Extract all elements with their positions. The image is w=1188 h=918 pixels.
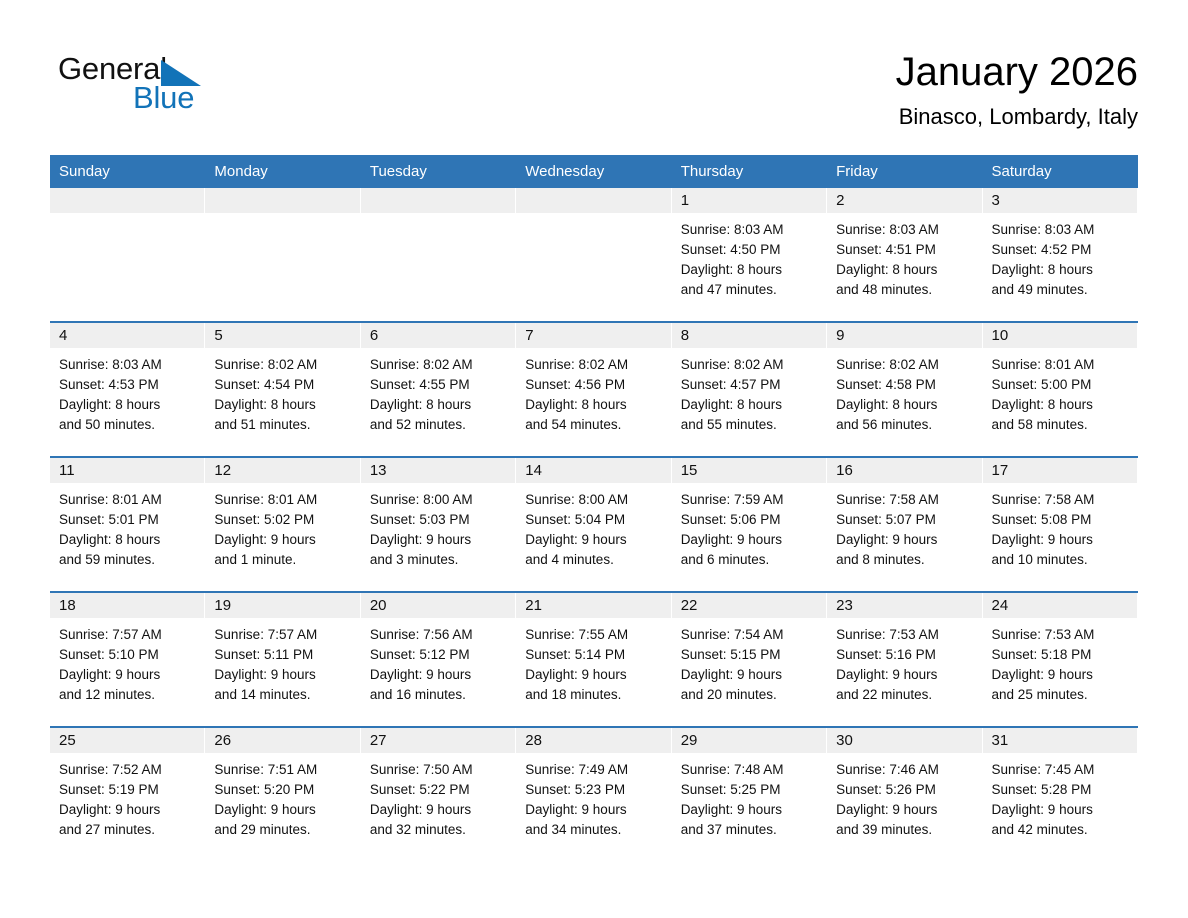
daylight-text-line2: and 10 minutes. (992, 550, 1130, 570)
day-number: 3 (983, 192, 1000, 209)
day-cell[interactable]: 11Sunrise: 8:01 AMSunset: 5:01 PMDayligh… (50, 458, 205, 591)
day-cell[interactable]: 7Sunrise: 8:02 AMSunset: 4:56 PMDaylight… (516, 323, 671, 456)
daylight-text-line2: and 4 minutes. (525, 550, 663, 570)
day-cell[interactable]: 22Sunrise: 7:54 AMSunset: 5:15 PMDayligh… (672, 593, 827, 726)
calendar-week-row: 1Sunrise: 8:03 AMSunset: 4:50 PMDaylight… (50, 188, 1138, 322)
day-cell[interactable]: 20Sunrise: 7:56 AMSunset: 5:12 PMDayligh… (361, 593, 516, 726)
calendar-cell[interactable]: 12Sunrise: 8:01 AMSunset: 5:02 PMDayligh… (205, 457, 360, 592)
day-number-band (361, 188, 516, 213)
calendar-cell[interactable]: 23Sunrise: 7:53 AMSunset: 5:16 PMDayligh… (827, 592, 982, 727)
day-number (205, 192, 214, 209)
calendar-cell[interactable]: 9Sunrise: 8:02 AMSunset: 4:58 PMDaylight… (827, 322, 982, 457)
daylight-text-line2: and 1 minute. (214, 550, 352, 570)
day-number-band: 25 (50, 728, 205, 753)
calendar-cell[interactable]: 31Sunrise: 7:45 AMSunset: 5:28 PMDayligh… (983, 727, 1138, 861)
sunset-text: Sunset: 5:18 PM (992, 645, 1130, 665)
day-cell[interactable]: 17Sunrise: 7:58 AMSunset: 5:08 PMDayligh… (983, 458, 1138, 591)
daylight-text-line2: and 34 minutes. (525, 820, 663, 840)
calendar-cell[interactable]: 8Sunrise: 8:02 AMSunset: 4:57 PMDaylight… (672, 322, 827, 457)
day-number-band (516, 188, 671, 213)
sunset-text: Sunset: 4:52 PM (992, 240, 1130, 260)
calendar-cell[interactable]: 13Sunrise: 8:00 AMSunset: 5:03 PMDayligh… (361, 457, 516, 592)
sunset-text: Sunset: 5:10 PM (59, 645, 197, 665)
day-cell[interactable] (361, 188, 516, 321)
day-number-band (50, 188, 205, 213)
day-number-band: 24 (983, 593, 1138, 618)
daylight-text-line1: Daylight: 8 hours (370, 395, 508, 415)
daylight-text-line1: Daylight: 9 hours (370, 800, 508, 820)
daylight-text-line2: and 18 minutes. (525, 685, 663, 705)
day-cell[interactable]: 29Sunrise: 7:48 AMSunset: 5:25 PMDayligh… (672, 728, 827, 861)
weekday-header-thursday: Thursday (672, 155, 827, 188)
sunrise-text: Sunrise: 8:03 AM (59, 355, 197, 375)
sunrise-text: Sunrise: 7:49 AM (525, 760, 663, 780)
day-cell[interactable]: 26Sunrise: 7:51 AMSunset: 5:20 PMDayligh… (205, 728, 360, 861)
day-number-band: 6 (361, 323, 516, 348)
day-number: 5 (205, 327, 222, 344)
daylight-text-line1: Daylight: 9 hours (525, 800, 663, 820)
sunrise-text: Sunrise: 7:53 AM (836, 625, 974, 645)
day-number: 22 (672, 597, 698, 614)
daylight-text-line1: Daylight: 9 hours (681, 665, 819, 685)
day-number: 30 (827, 732, 853, 749)
day-cell[interactable]: 8Sunrise: 8:02 AMSunset: 4:57 PMDaylight… (672, 323, 827, 456)
day-number: 15 (672, 462, 698, 479)
day-cell[interactable]: 24Sunrise: 7:53 AMSunset: 5:18 PMDayligh… (983, 593, 1138, 726)
calendar-cell[interactable]: 28Sunrise: 7:49 AMSunset: 5:23 PMDayligh… (516, 727, 671, 861)
calendar-cell[interactable]: 17Sunrise: 7:58 AMSunset: 5:08 PMDayligh… (983, 457, 1138, 592)
daylight-text-line1: Daylight: 9 hours (681, 530, 819, 550)
day-number-band: 29 (672, 728, 827, 753)
sunset-text: Sunset: 5:16 PM (836, 645, 974, 665)
weekday-header-row: Sunday Monday Tuesday Wednesday Thursday… (50, 155, 1138, 188)
daylight-text-line1: Daylight: 9 hours (370, 665, 508, 685)
sunset-text: Sunset: 4:54 PM (214, 375, 352, 395)
sunset-text: Sunset: 5:26 PM (836, 780, 974, 800)
day-number-band: 18 (50, 593, 205, 618)
sunrise-text: Sunrise: 7:51 AM (214, 760, 352, 780)
calendar-cell[interactable]: 7Sunrise: 8:02 AMSunset: 4:56 PMDaylight… (516, 322, 671, 457)
day-number: 7 (516, 327, 533, 344)
daylight-text-line2: and 8 minutes. (836, 550, 974, 570)
sunset-text: Sunset: 5:07 PM (836, 510, 974, 530)
day-cell[interactable]: 18Sunrise: 7:57 AMSunset: 5:10 PMDayligh… (50, 593, 205, 726)
day-number: 25 (50, 732, 76, 749)
day-details: Sunrise: 7:56 AMSunset: 5:12 PMDaylight:… (361, 618, 516, 705)
calendar-page: General Blue January 2026 Binasco, Lomba… (50, 0, 1138, 918)
daylight-text-line1: Daylight: 8 hours (59, 395, 197, 415)
day-details: Sunrise: 8:01 AMSunset: 5:00 PMDaylight:… (983, 348, 1138, 435)
day-details: Sunrise: 7:48 AMSunset: 5:25 PMDaylight:… (672, 753, 827, 840)
sunset-text: Sunset: 5:02 PM (214, 510, 352, 530)
day-details: Sunrise: 8:01 AMSunset: 5:01 PMDaylight:… (50, 483, 205, 570)
sunrise-text: Sunrise: 8:03 AM (681, 220, 819, 240)
day-number: 31 (983, 732, 1009, 749)
day-number: 16 (827, 462, 853, 479)
day-number-band: 16 (827, 458, 982, 483)
daylight-text-line2: and 27 minutes. (59, 820, 197, 840)
day-cell[interactable]: 16Sunrise: 7:58 AMSunset: 5:07 PMDayligh… (827, 458, 982, 591)
day-number-band: 2 (827, 188, 982, 213)
sunrise-text: Sunrise: 7:54 AM (681, 625, 819, 645)
daylight-text-line2: and 42 minutes. (992, 820, 1130, 840)
day-number: 13 (361, 462, 387, 479)
day-details: Sunrise: 7:58 AMSunset: 5:07 PMDaylight:… (827, 483, 982, 570)
day-details: Sunrise: 7:57 AMSunset: 5:10 PMDaylight:… (50, 618, 205, 705)
daylight-text-line2: and 3 minutes. (370, 550, 508, 570)
daylight-text-line1: Daylight: 8 hours (992, 260, 1130, 280)
calendar-cell[interactable] (361, 188, 516, 322)
sunrise-text: Sunrise: 7:52 AM (59, 760, 197, 780)
day-details: Sunrise: 7:54 AMSunset: 5:15 PMDaylight:… (672, 618, 827, 705)
page-subtitle: Binasco, Lombardy, Italy (896, 102, 1138, 132)
daylight-text-line1: Daylight: 9 hours (836, 530, 974, 550)
sunrise-text: Sunrise: 8:00 AM (370, 490, 508, 510)
sunset-text: Sunset: 4:50 PM (681, 240, 819, 260)
daylight-text-line2: and 37 minutes. (681, 820, 819, 840)
daylight-text-line1: Daylight: 8 hours (59, 530, 197, 550)
calendar-cell[interactable]: 21Sunrise: 7:55 AMSunset: 5:14 PMDayligh… (516, 592, 671, 727)
calendar-cell[interactable]: 6Sunrise: 8:02 AMSunset: 4:55 PMDaylight… (361, 322, 516, 457)
day-number-band: 27 (361, 728, 516, 753)
day-number-band: 17 (983, 458, 1138, 483)
sunset-text: Sunset: 5:12 PM (370, 645, 508, 665)
sunrise-text: Sunrise: 7:57 AM (59, 625, 197, 645)
calendar-cell[interactable]: 20Sunrise: 7:56 AMSunset: 5:12 PMDayligh… (361, 592, 516, 727)
day-number (361, 192, 370, 209)
sunset-text: Sunset: 4:57 PM (681, 375, 819, 395)
day-number-band: 12 (205, 458, 360, 483)
day-number-band: 19 (205, 593, 360, 618)
day-number-band (205, 188, 360, 213)
daylight-text-line2: and 58 minutes. (992, 415, 1130, 435)
day-number: 14 (516, 462, 542, 479)
day-number-band: 5 (205, 323, 360, 348)
day-cell[interactable]: 9Sunrise: 8:02 AMSunset: 4:58 PMDaylight… (827, 323, 982, 456)
sunset-text: Sunset: 5:08 PM (992, 510, 1130, 530)
sunset-text: Sunset: 4:56 PM (525, 375, 663, 395)
day-number: 21 (516, 597, 542, 614)
sunrise-text: Sunrise: 8:03 AM (992, 220, 1130, 240)
day-details: Sunrise: 7:50 AMSunset: 5:22 PMDaylight:… (361, 753, 516, 840)
day-number: 1 (672, 192, 689, 209)
daylight-text-line2: and 50 minutes. (59, 415, 197, 435)
sunrise-text: Sunrise: 7:53 AM (992, 625, 1130, 645)
day-number-band: 30 (827, 728, 982, 753)
day-details: Sunrise: 8:03 AMSunset: 4:51 PMDaylight:… (827, 213, 982, 300)
daylight-text-line1: Daylight: 9 hours (681, 800, 819, 820)
calendar-body: 1Sunrise: 8:03 AMSunset: 4:50 PMDaylight… (50, 188, 1138, 861)
sunrise-text: Sunrise: 7:58 AM (836, 490, 974, 510)
day-cell[interactable]: 30Sunrise: 7:46 AMSunset: 5:26 PMDayligh… (827, 728, 982, 861)
sunrise-text: Sunrise: 8:01 AM (59, 490, 197, 510)
day-details: Sunrise: 7:49 AMSunset: 5:23 PMDaylight:… (516, 753, 671, 840)
calendar-cell[interactable]: 26Sunrise: 7:51 AMSunset: 5:20 PMDayligh… (205, 727, 360, 861)
page-title: January 2026 (896, 48, 1138, 96)
calendar-cell[interactable]: 4Sunrise: 8:03 AMSunset: 4:53 PMDaylight… (50, 322, 205, 457)
day-number-band: 10 (983, 323, 1138, 348)
day-number-band: 13 (361, 458, 516, 483)
calendar-cell[interactable]: 5Sunrise: 8:02 AMSunset: 4:54 PMDaylight… (205, 322, 360, 457)
day-cell[interactable]: 3Sunrise: 8:03 AMSunset: 4:52 PMDaylight… (983, 188, 1138, 321)
daylight-text-line1: Daylight: 9 hours (992, 530, 1130, 550)
daylight-text-line2: and 32 minutes. (370, 820, 508, 840)
daylight-text-line1: Daylight: 9 hours (59, 665, 197, 685)
day-number-band: 8 (672, 323, 827, 348)
day-cell[interactable]: 27Sunrise: 7:50 AMSunset: 5:22 PMDayligh… (361, 728, 516, 861)
calendar-cell[interactable]: 27Sunrise: 7:50 AMSunset: 5:22 PMDayligh… (361, 727, 516, 861)
day-cell[interactable]: 10Sunrise: 8:01 AMSunset: 5:00 PMDayligh… (983, 323, 1138, 456)
day-number-band: 21 (516, 593, 671, 618)
day-number: 12 (205, 462, 231, 479)
day-cell[interactable]: 13Sunrise: 8:00 AMSunset: 5:03 PMDayligh… (361, 458, 516, 591)
sunrise-text: Sunrise: 7:59 AM (681, 490, 819, 510)
day-number: 29 (672, 732, 698, 749)
sunset-text: Sunset: 5:01 PM (59, 510, 197, 530)
sunrise-text: Sunrise: 7:46 AM (836, 760, 974, 780)
day-number: 19 (205, 597, 231, 614)
sunrise-text: Sunrise: 8:02 AM (370, 355, 508, 375)
day-details: Sunrise: 7:55 AMSunset: 5:14 PMDaylight:… (516, 618, 671, 705)
calendar-week-row: 11Sunrise: 8:01 AMSunset: 5:01 PMDayligh… (50, 457, 1138, 592)
sunset-text: Sunset: 4:53 PM (59, 375, 197, 395)
daylight-text-line1: Daylight: 9 hours (370, 530, 508, 550)
daylight-text-line2: and 52 minutes. (370, 415, 508, 435)
daylight-text-line1: Daylight: 9 hours (525, 530, 663, 550)
day-number-band: 31 (983, 728, 1138, 753)
calendar-cell[interactable]: 24Sunrise: 7:53 AMSunset: 5:18 PMDayligh… (983, 592, 1138, 727)
sunset-text: Sunset: 5:06 PM (681, 510, 819, 530)
page-masthead: General Blue January 2026 Binasco, Lomba… (50, 0, 1138, 155)
day-details: Sunrise: 7:53 AMSunset: 5:18 PMDaylight:… (983, 618, 1138, 705)
sunset-text: Sunset: 5:22 PM (370, 780, 508, 800)
weekday-header-sunday: Sunday (50, 155, 205, 188)
day-number-band: 7 (516, 323, 671, 348)
daylight-text-line1: Daylight: 8 hours (992, 395, 1130, 415)
title-block: January 2026 Binasco, Lombardy, Italy (896, 48, 1138, 132)
daylight-text-line2: and 59 minutes. (59, 550, 197, 570)
sunrise-text: Sunrise: 7:58 AM (992, 490, 1130, 510)
sunset-text: Sunset: 5:04 PM (525, 510, 663, 530)
sunset-text: Sunset: 5:00 PM (992, 375, 1130, 395)
day-details: Sunrise: 7:51 AMSunset: 5:20 PMDaylight:… (205, 753, 360, 840)
daylight-text-line2: and 39 minutes. (836, 820, 974, 840)
day-details: Sunrise: 8:00 AMSunset: 5:04 PMDaylight:… (516, 483, 671, 570)
day-details: Sunrise: 7:59 AMSunset: 5:06 PMDaylight:… (672, 483, 827, 570)
day-details: Sunrise: 8:02 AMSunset: 4:54 PMDaylight:… (205, 348, 360, 435)
daylight-text-line2: and 54 minutes. (525, 415, 663, 435)
calendar-grid: Sunday Monday Tuesday Wednesday Thursday… (50, 155, 1138, 861)
day-number (516, 192, 525, 209)
day-cell[interactable]: 23Sunrise: 7:53 AMSunset: 5:16 PMDayligh… (827, 593, 982, 726)
daylight-text-line2: and 51 minutes. (214, 415, 352, 435)
weekday-header-monday: Monday (205, 155, 360, 188)
sunrise-text: Sunrise: 8:02 AM (214, 355, 352, 375)
day-cell[interactable]: 4Sunrise: 8:03 AMSunset: 4:53 PMDaylight… (50, 323, 205, 456)
day-cell[interactable]: 25Sunrise: 7:52 AMSunset: 5:19 PMDayligh… (50, 728, 205, 861)
daylight-text-line2: and 49 minutes. (992, 280, 1130, 300)
day-cell[interactable]: 15Sunrise: 7:59 AMSunset: 5:06 PMDayligh… (672, 458, 827, 591)
daylight-text-line1: Daylight: 9 hours (525, 665, 663, 685)
weekday-header-friday: Friday (827, 155, 982, 188)
sunrise-text: Sunrise: 8:01 AM (214, 490, 352, 510)
calendar-cell[interactable]: 30Sunrise: 7:46 AMSunset: 5:26 PMDayligh… (827, 727, 982, 861)
day-details: Sunrise: 8:02 AMSunset: 4:56 PMDaylight:… (516, 348, 671, 435)
sunrise-text: Sunrise: 7:57 AM (214, 625, 352, 645)
day-number: 17 (983, 462, 1009, 479)
day-number-band: 1 (672, 188, 827, 213)
daylight-text-line2: and 47 minutes. (681, 280, 819, 300)
day-number: 11 (50, 462, 75, 479)
sunrise-text: Sunrise: 8:03 AM (836, 220, 974, 240)
day-number-band: 3 (983, 188, 1138, 213)
day-number-band: 4 (50, 323, 205, 348)
calendar-cell[interactable]: 16Sunrise: 7:58 AMSunset: 5:07 PMDayligh… (827, 457, 982, 592)
calendar-cell[interactable]: 25Sunrise: 7:52 AMSunset: 5:19 PMDayligh… (50, 727, 205, 861)
calendar-cell[interactable]: 18Sunrise: 7:57 AMSunset: 5:10 PMDayligh… (50, 592, 205, 727)
calendar-cell[interactable]: 10Sunrise: 8:01 AMSunset: 5:00 PMDayligh… (983, 322, 1138, 457)
daylight-text-line2: and 20 minutes. (681, 685, 819, 705)
sunrise-text: Sunrise: 8:01 AM (992, 355, 1130, 375)
day-cell[interactable]: 31Sunrise: 7:45 AMSunset: 5:28 PMDayligh… (983, 728, 1138, 861)
day-details: Sunrise: 8:02 AMSunset: 4:58 PMDaylight:… (827, 348, 982, 435)
calendar-cell[interactable]: 11Sunrise: 8:01 AMSunset: 5:01 PMDayligh… (50, 457, 205, 592)
day-cell[interactable]: 5Sunrise: 8:02 AMSunset: 4:54 PMDaylight… (205, 323, 360, 456)
day-cell[interactable]: 6Sunrise: 8:02 AMSunset: 4:55 PMDaylight… (361, 323, 516, 456)
day-number-band: 28 (516, 728, 671, 753)
day-details: Sunrise: 8:03 AMSunset: 4:52 PMDaylight:… (983, 213, 1138, 300)
daylight-text-line1: Daylight: 8 hours (836, 395, 974, 415)
day-number: 10 (983, 327, 1009, 344)
day-number-band: 9 (827, 323, 982, 348)
sunset-text: Sunset: 5:11 PM (214, 645, 352, 665)
day-details: Sunrise: 7:52 AMSunset: 5:19 PMDaylight:… (50, 753, 205, 840)
day-number: 20 (361, 597, 387, 614)
calendar-cell[interactable]: 29Sunrise: 7:48 AMSunset: 5:25 PMDayligh… (672, 727, 827, 861)
daylight-text-line2: and 56 minutes. (836, 415, 974, 435)
day-details: Sunrise: 8:02 AMSunset: 4:55 PMDaylight:… (361, 348, 516, 435)
weekday-header-saturday: Saturday (983, 155, 1138, 188)
day-cell[interactable] (516, 188, 671, 321)
brand-logo[interactable]: General Blue (58, 52, 248, 118)
day-cell[interactable]: 1Sunrise: 8:03 AMSunset: 4:50 PMDaylight… (672, 188, 827, 321)
calendar-week-row: 4Sunrise: 8:03 AMSunset: 4:53 PMDaylight… (50, 322, 1138, 457)
calendar-cell[interactable]: 19Sunrise: 7:57 AMSunset: 5:11 PMDayligh… (205, 592, 360, 727)
day-details: Sunrise: 7:58 AMSunset: 5:08 PMDaylight:… (983, 483, 1138, 570)
sunset-text: Sunset: 4:51 PM (836, 240, 974, 260)
day-details: Sunrise: 7:45 AMSunset: 5:28 PMDaylight:… (983, 753, 1138, 840)
day-cell[interactable]: 14Sunrise: 8:00 AMSunset: 5:04 PMDayligh… (516, 458, 671, 591)
weekday-header-tuesday: Tuesday (361, 155, 516, 188)
day-details: Sunrise: 7:46 AMSunset: 5:26 PMDaylight:… (827, 753, 982, 840)
daylight-text-line1: Daylight: 8 hours (836, 260, 974, 280)
day-cell[interactable] (50, 188, 205, 321)
sunset-text: Sunset: 5:23 PM (525, 780, 663, 800)
calendar-cell[interactable] (516, 188, 671, 322)
day-cell[interactable]: 21Sunrise: 7:55 AMSunset: 5:14 PMDayligh… (516, 593, 671, 726)
calendar-week-row: 18Sunrise: 7:57 AMSunset: 5:10 PMDayligh… (50, 592, 1138, 727)
sunrise-text: Sunrise: 7:56 AM (370, 625, 508, 645)
daylight-text-line1: Daylight: 9 hours (59, 800, 197, 820)
daylight-text-line1: Daylight: 9 hours (214, 665, 352, 685)
daylight-text-line1: Daylight: 9 hours (214, 530, 352, 550)
day-number: 9 (827, 327, 844, 344)
sunset-text: Sunset: 5:15 PM (681, 645, 819, 665)
day-details: Sunrise: 8:03 AMSunset: 4:53 PMDaylight:… (50, 348, 205, 435)
calendar-cell[interactable] (205, 188, 360, 322)
daylight-text-line1: Daylight: 8 hours (525, 395, 663, 415)
day-cell[interactable]: 12Sunrise: 8:01 AMSunset: 5:02 PMDayligh… (205, 458, 360, 591)
day-details: Sunrise: 7:53 AMSunset: 5:16 PMDaylight:… (827, 618, 982, 705)
day-details: Sunrise: 8:02 AMSunset: 4:57 PMDaylight:… (672, 348, 827, 435)
day-number-band: 15 (672, 458, 827, 483)
day-number-band: 26 (205, 728, 360, 753)
calendar-cell[interactable] (50, 188, 205, 322)
daylight-text-line2: and 12 minutes. (59, 685, 197, 705)
weekday-header-wednesday: Wednesday (516, 155, 671, 188)
calendar-cell[interactable]: 22Sunrise: 7:54 AMSunset: 5:15 PMDayligh… (672, 592, 827, 727)
daylight-text-line1: Daylight: 8 hours (681, 395, 819, 415)
daylight-text-line2: and 48 minutes. (836, 280, 974, 300)
day-number: 2 (827, 192, 844, 209)
daylight-text-line2: and 55 minutes. (681, 415, 819, 435)
day-number-band: 22 (672, 593, 827, 618)
daylight-text-line2: and 29 minutes. (214, 820, 352, 840)
sunrise-text: Sunrise: 7:45 AM (992, 760, 1130, 780)
daylight-text-line2: and 16 minutes. (370, 685, 508, 705)
daylight-text-line1: Daylight: 9 hours (836, 800, 974, 820)
day-details: Sunrise: 8:01 AMSunset: 5:02 PMDaylight:… (205, 483, 360, 570)
sunset-text: Sunset: 5:20 PM (214, 780, 352, 800)
day-cell[interactable]: 2Sunrise: 8:03 AMSunset: 4:51 PMDaylight… (827, 188, 982, 321)
day-number: 24 (983, 597, 1009, 614)
daylight-text-line1: Daylight: 9 hours (992, 665, 1130, 685)
sunrise-text: Sunrise: 7:48 AM (681, 760, 819, 780)
sunset-text: Sunset: 5:19 PM (59, 780, 197, 800)
daylight-text-line2: and 14 minutes. (214, 685, 352, 705)
sunset-text: Sunset: 5:03 PM (370, 510, 508, 530)
sunrise-text: Sunrise: 7:55 AM (525, 625, 663, 645)
day-number: 6 (361, 327, 378, 344)
day-cell[interactable] (205, 188, 360, 321)
day-number: 27 (361, 732, 387, 749)
sunset-text: Sunset: 5:28 PM (992, 780, 1130, 800)
sunrise-text: Sunrise: 8:02 AM (681, 355, 819, 375)
calendar-cell[interactable]: 1Sunrise: 8:03 AMSunset: 4:50 PMDaylight… (672, 188, 827, 322)
sunrise-text: Sunrise: 7:50 AM (370, 760, 508, 780)
calendar-cell[interactable]: 3Sunrise: 8:03 AMSunset: 4:52 PMDaylight… (983, 188, 1138, 322)
day-cell[interactable]: 19Sunrise: 7:57 AMSunset: 5:11 PMDayligh… (205, 593, 360, 726)
daylight-text-line2: and 25 minutes. (992, 685, 1130, 705)
day-number (50, 192, 59, 209)
sunrise-text: Sunrise: 8:00 AM (525, 490, 663, 510)
calendar-cell[interactable]: 14Sunrise: 8:00 AMSunset: 5:04 PMDayligh… (516, 457, 671, 592)
day-number: 23 (827, 597, 853, 614)
calendar-cell[interactable]: 15Sunrise: 7:59 AMSunset: 5:06 PMDayligh… (672, 457, 827, 592)
day-number-band: 14 (516, 458, 671, 483)
day-number: 26 (205, 732, 231, 749)
day-number: 8 (672, 327, 689, 344)
sunset-text: Sunset: 5:14 PM (525, 645, 663, 665)
day-number-band: 11 (50, 458, 205, 483)
calendar-cell[interactable]: 2Sunrise: 8:03 AMSunset: 4:51 PMDaylight… (827, 188, 982, 322)
day-number-band: 23 (827, 593, 982, 618)
daylight-text-line1: Daylight: 9 hours (214, 800, 352, 820)
day-details: Sunrise: 8:00 AMSunset: 5:03 PMDaylight:… (361, 483, 516, 570)
sunset-text: Sunset: 4:55 PM (370, 375, 508, 395)
day-cell[interactable]: 28Sunrise: 7:49 AMSunset: 5:23 PMDayligh… (516, 728, 671, 861)
daylight-text-line1: Daylight: 8 hours (681, 260, 819, 280)
